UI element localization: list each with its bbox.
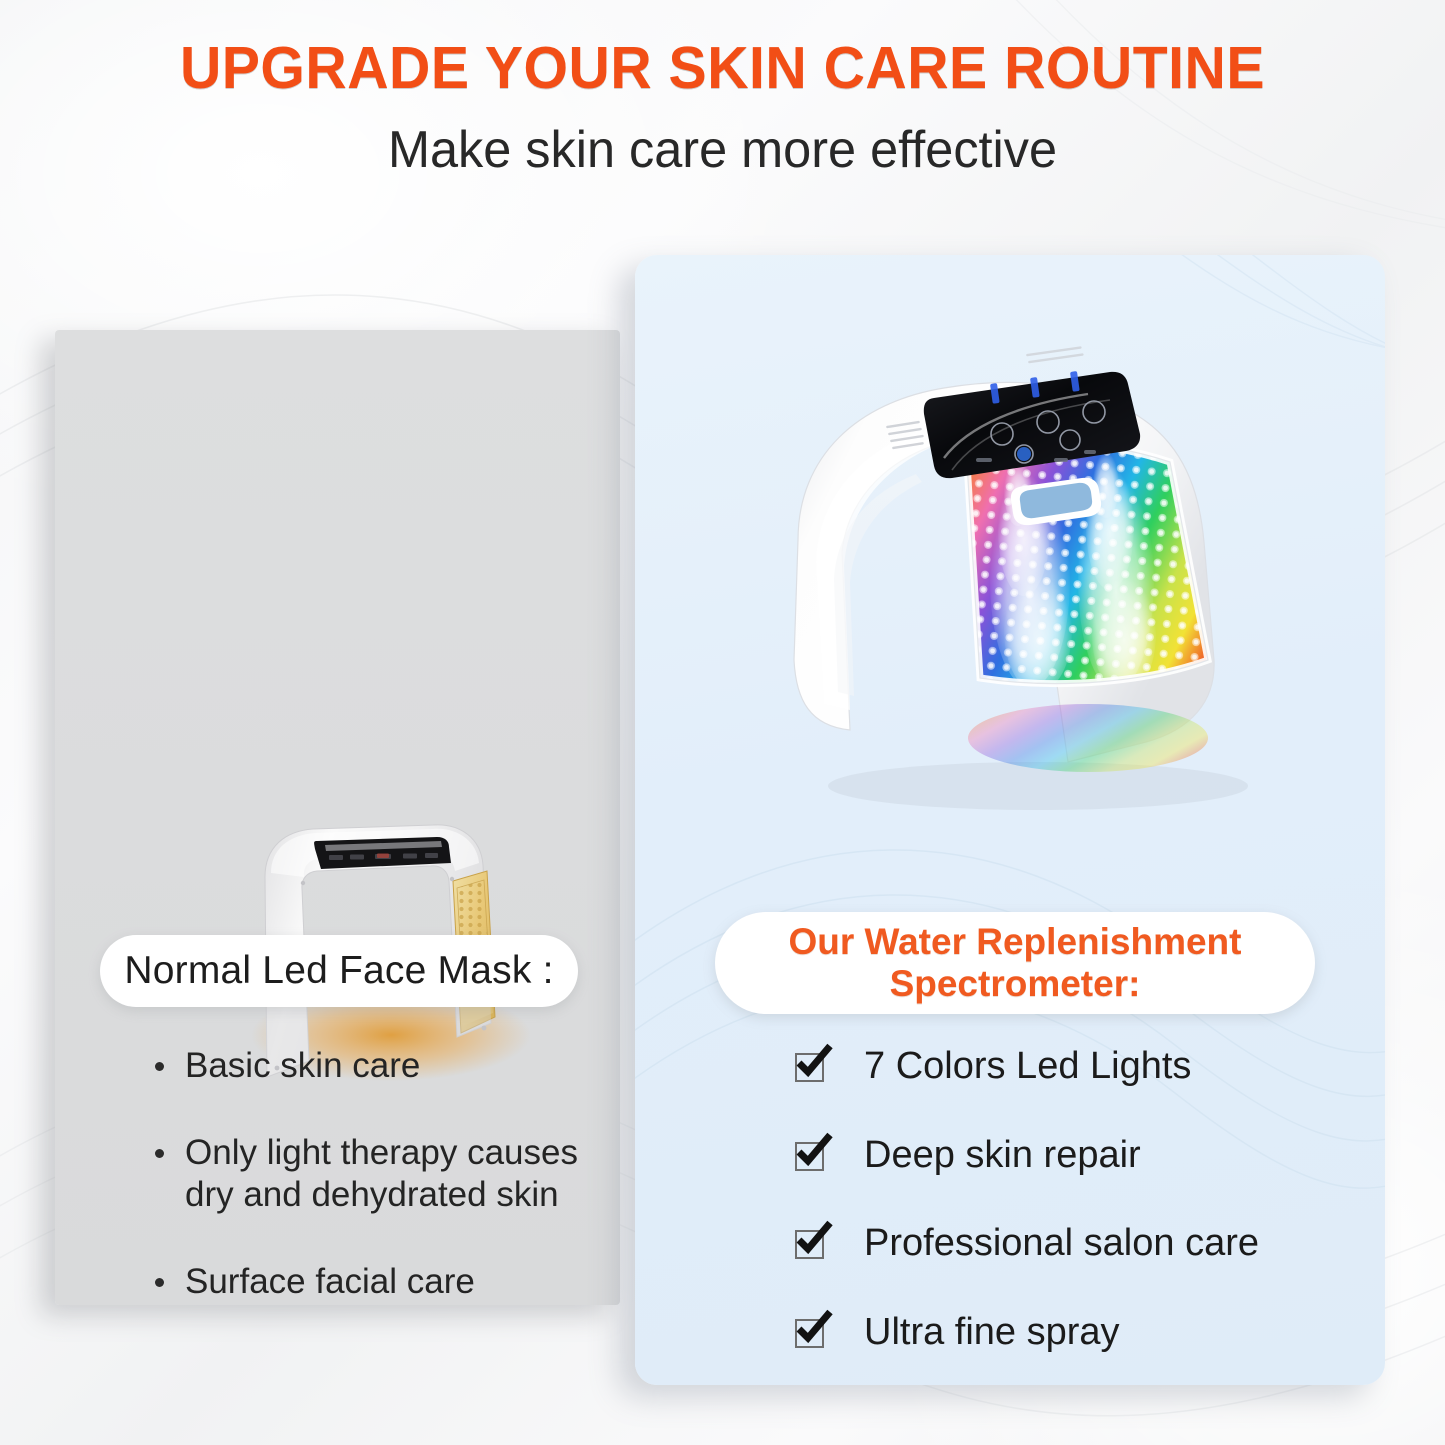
bullet-dot-icon bbox=[155, 1149, 164, 1158]
ballot-box-with-check-icon bbox=[795, 1142, 824, 1171]
left-comparison-panel: Normal Led Face Mask : Basic skin care O… bbox=[55, 330, 620, 1305]
list-item: Professional salon care bbox=[795, 1222, 1325, 1266]
water-replenishment-spectrometer-image bbox=[738, 330, 1308, 830]
list-item: Basic skin care bbox=[155, 1045, 595, 1088]
right-panel-feature-list: 7 Colors Led Lights Deep skin repair Pro… bbox=[795, 1045, 1325, 1385]
list-item: Deep skin repair bbox=[795, 1134, 1325, 1178]
right-panel-badge-label: Our Water Replenishment Spectrometer: bbox=[789, 921, 1242, 1005]
feature-label: Ultra fine spray bbox=[864, 1311, 1120, 1355]
page-title: UPGRADE YOUR SKIN CARE ROUTINE bbox=[22, 38, 1424, 100]
infographic-canvas: UPGRADE YOUR SKIN CARE ROUTINE Make skin… bbox=[0, 0, 1445, 1445]
feature-label: Deep skin repair bbox=[864, 1134, 1141, 1178]
list-item: Only light therapy causes dry and dehydr… bbox=[155, 1132, 595, 1217]
bullet-label: Surface facial care bbox=[185, 1261, 475, 1304]
page-subtitle: Make skin care more effective bbox=[22, 122, 1424, 179]
right-panel-badge-line1: Our Water Replenishment bbox=[789, 921, 1242, 962]
header-block: UPGRADE YOUR SKIN CARE ROUTINE Make skin… bbox=[0, 38, 1445, 179]
list-item: Surface facial care bbox=[155, 1261, 595, 1304]
right-panel-badge: Our Water Replenishment Spectrometer: bbox=[715, 912, 1315, 1014]
left-panel-badge: Normal Led Face Mask : bbox=[100, 935, 578, 1007]
right-panel-badge-line2: Spectrometer: bbox=[890, 963, 1141, 1004]
ballot-box-with-check-icon bbox=[795, 1319, 824, 1348]
list-item: Ultra fine spray bbox=[795, 1311, 1325, 1355]
left-panel-badge-label: Normal Led Face Mask : bbox=[124, 949, 553, 993]
bullet-label: Only light therapy causes dry and dehydr… bbox=[185, 1132, 595, 1217]
left-panel-bullet-list: Basic skin care Only light therapy cause… bbox=[155, 1045, 595, 1348]
list-item: 7 Colors Led Lights bbox=[795, 1045, 1325, 1089]
bullet-label: Basic skin care bbox=[185, 1045, 420, 1088]
ballot-box-with-check-icon bbox=[795, 1053, 824, 1082]
ballot-box-with-check-icon bbox=[795, 1230, 824, 1259]
bullet-dot-icon bbox=[155, 1062, 164, 1071]
right-comparison-panel: Our Water Replenishment Spectrometer: 7 … bbox=[635, 255, 1385, 1385]
feature-label: 7 Colors Led Lights bbox=[864, 1045, 1191, 1089]
feature-label: Professional salon care bbox=[864, 1222, 1259, 1266]
bullet-dot-icon bbox=[155, 1278, 164, 1287]
